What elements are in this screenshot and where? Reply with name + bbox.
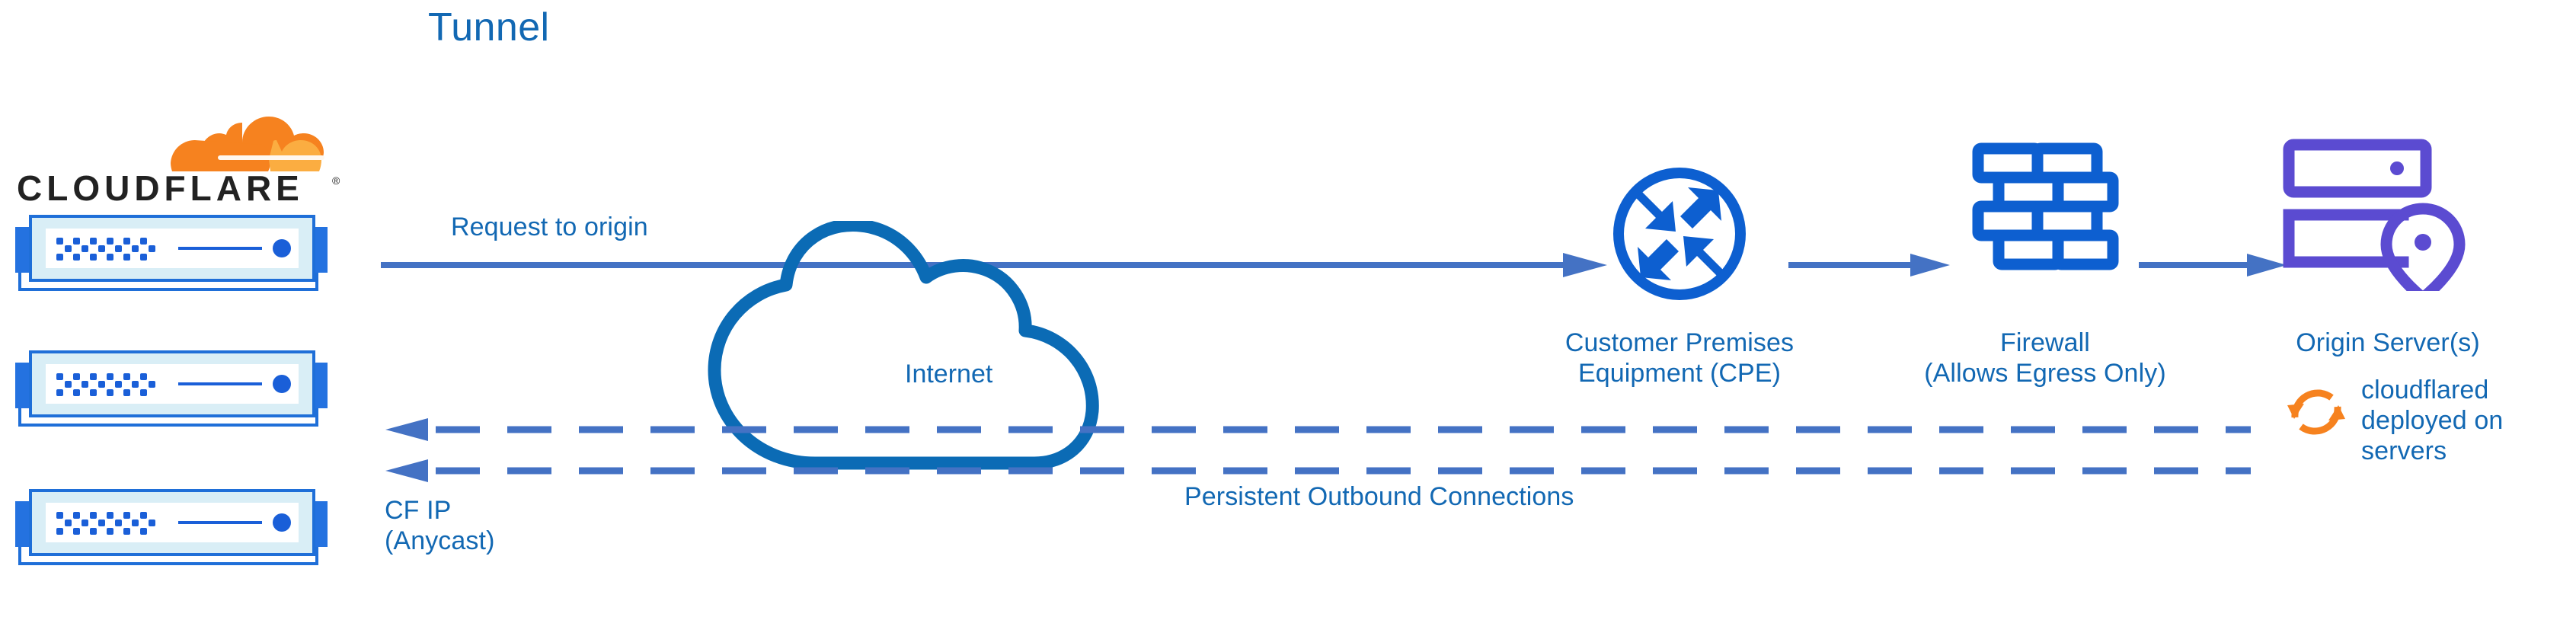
- cloudflare-logo: CLOUDFLARE ®: [14, 101, 349, 207]
- brick-wall-icon: [1971, 142, 2120, 294]
- cloudflare-wordmark: CLOUDFLARE ®: [17, 168, 340, 207]
- svg-text:®: ®: [332, 174, 340, 187]
- firewall-icon: [1971, 142, 2120, 294]
- cf-ip-anycast-label: CF IP (Anycast): [385, 495, 628, 556]
- cpe-icon: [1607, 161, 1752, 306]
- origin-server-icon: [2281, 139, 2472, 291]
- cloudflared-sync-icon: [2284, 379, 2349, 445]
- svg-text:CLOUDFLARE: CLOUDFLARE: [17, 168, 304, 207]
- converging-arrows-circle-icon: [1607, 161, 1752, 306]
- persistent-connection-arrow-1: [381, 417, 2255, 446]
- page-title: Tunnel: [428, 5, 549, 50]
- firewall-label: Firewall (Allows Egress Only): [1870, 328, 2220, 388]
- internet-label: Internet: [905, 360, 993, 388]
- cloudflare-edge-server-2: [9, 349, 337, 439]
- server-with-location-pin-icon: [2281, 139, 2472, 291]
- tunnel-diagram-canvas: Tunnel CLOUDFLARE ®: [0, 0, 2576, 617]
- firewall-to-origin-arrow: [2139, 251, 2291, 283]
- origin-server-label: Origin Server(s): [2247, 328, 2529, 358]
- cpe-to-firewall-arrow: [1788, 251, 1954, 283]
- cloudflare-cloud-logo-svg: CLOUDFLARE ®: [14, 101, 349, 207]
- request-to-origin-label: Request to origin: [451, 212, 648, 242]
- cloudflared-label: cloudflared deployed on servers: [2361, 375, 2567, 466]
- cpe-label: Customer Premises Equipment (CPE): [1512, 328, 1847, 388]
- persistent-outbound-connections-label: Persistent Outbound Connections: [1184, 481, 1748, 512]
- cloudflare-edge-server-1: [9, 213, 337, 303]
- cloudflare-edge-server-3: [9, 488, 337, 577]
- cloudflare-cloud-icon: [171, 117, 324, 171]
- circular-sync-arrows-icon: [2284, 379, 2349, 445]
